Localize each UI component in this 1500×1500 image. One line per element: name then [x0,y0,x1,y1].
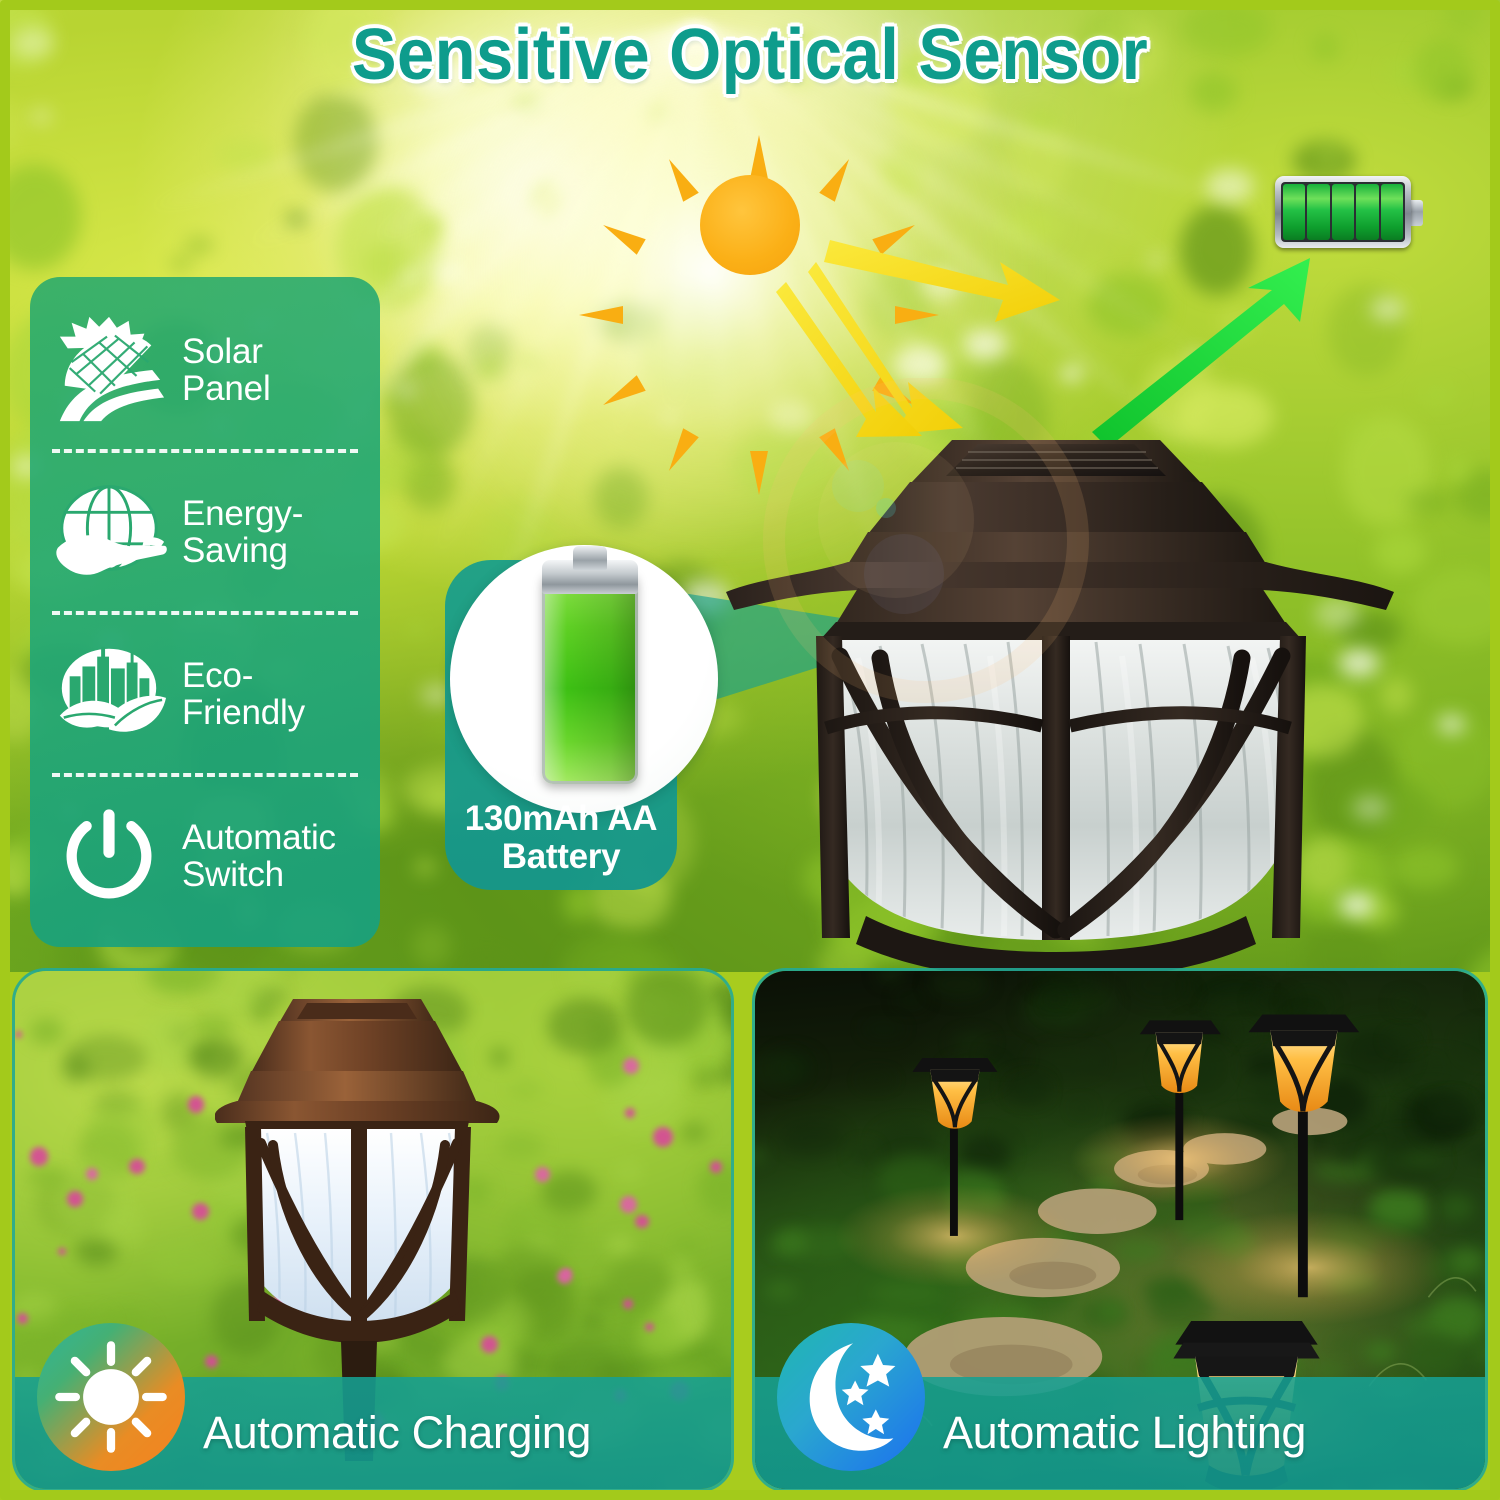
flower [653,1127,673,1147]
banner-label: Automatic Lighting [943,1407,1306,1459]
flower [188,1096,205,1113]
flower [645,1323,653,1331]
power-switch-icon [50,800,168,912]
sun-badge-icon [37,1323,185,1471]
solar-lantern-product [690,378,1420,978]
photo-automatic-lighting[interactable]: Automatic Lighting [752,968,1488,1492]
aa-battery-icon [542,572,638,784]
flower [625,1108,635,1118]
battery-cell [1381,184,1403,240]
battery-full-icon [1275,176,1423,248]
feature-label: SolarPanel [182,333,271,407]
globe-hand-icon [50,476,168,588]
flower [623,1058,639,1074]
battery-cell [1332,184,1354,240]
infographic-canvas: Sensitive Optical Sensor [0,0,1500,1500]
flower [67,1191,83,1207]
feature-item-automatic-switch[interactable]: AutomaticSwitch [44,781,366,931]
flower [635,1215,649,1229]
feature-item-solar-panel[interactable]: SolarPanel [44,295,366,445]
flower [86,1168,98,1180]
flower [623,1299,633,1309]
city-leaf-icon [50,638,168,750]
flower [15,1031,22,1038]
battery-cell [1307,184,1329,240]
flower [563,1269,571,1277]
banner-label: Automatic Charging [203,1407,591,1459]
feature-list-panel: SolarPanel Ene [30,277,380,947]
flower [620,1196,637,1213]
flower [58,1248,65,1255]
photo-automatic-charging[interactable]: Automatic Charging [12,968,734,1492]
feature-label: Eco-Friendly [182,657,305,731]
page-title: Sensitive Optical Sensor [53,14,1448,96]
divider [52,449,358,453]
divider [52,773,358,777]
battery-cell [1283,184,1305,240]
aa-battery-terminal [573,546,607,570]
solar-panel-icon [50,314,168,426]
flower [17,1313,28,1324]
feature-label: AutomaticSwitch [182,819,336,893]
sun-core [700,175,800,275]
sun-ray [895,306,939,324]
battery-shell [1275,176,1411,248]
feature-item-eco-friendly[interactable]: Eco-Friendly [44,619,366,769]
battery-cell [1356,184,1378,240]
feature-item-energy-saving[interactable]: Energy-Saving [44,457,366,607]
divider [52,611,358,615]
sun-ray [750,135,768,179]
battery-callout-label: 130mAh AABattery [445,800,677,876]
moon-stars-badge-icon [777,1323,925,1471]
sun-ray [661,155,699,202]
feature-label: Energy-Saving [182,495,303,569]
flower [129,1159,144,1174]
flower [30,1147,49,1166]
sun-icon [660,135,840,315]
sun-ray [579,306,623,324]
battery-cells [1281,182,1405,242]
